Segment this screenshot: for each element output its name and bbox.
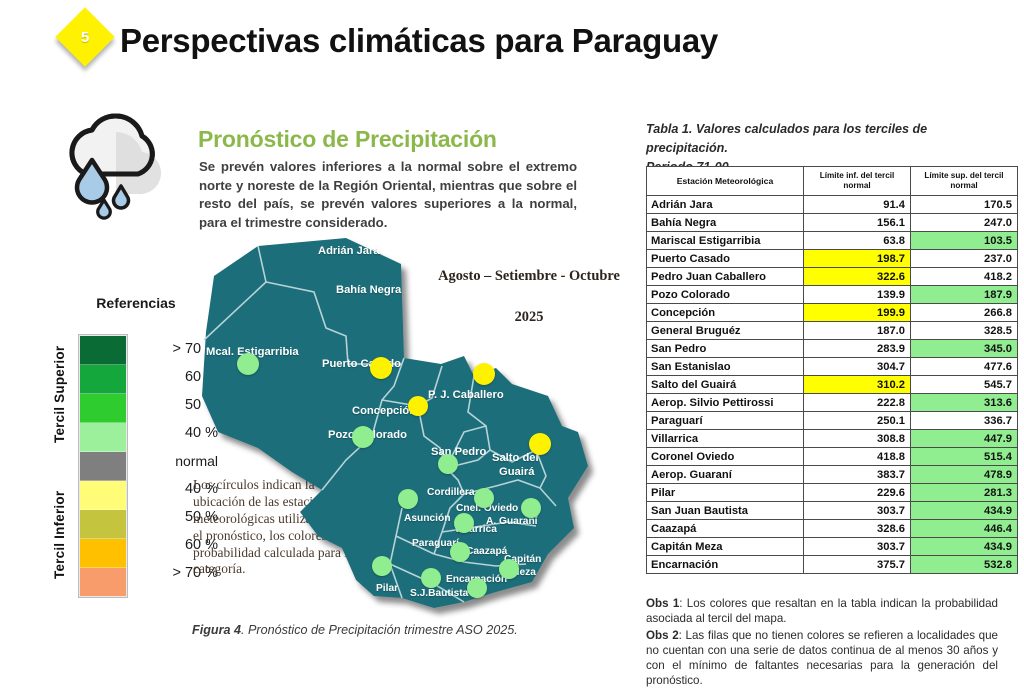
figure-caption: Figura 4. Pronóstico de Precipitación tr…: [192, 623, 612, 637]
map-station-marker[interactable]: [421, 568, 441, 588]
cell-lower-tercile: 139.9: [804, 286, 911, 304]
column-header-station: Estación Meteorológica: [647, 167, 804, 196]
observation-2: Obs 2: Las filas que no tienen colores s…: [646, 628, 998, 689]
cell-upper-tercile: 447.9: [911, 430, 1018, 448]
cell-upper-tercile: 237.0: [911, 250, 1018, 268]
cell-lower-tercile: 418.8: [804, 448, 911, 466]
cloud-rain-icon: [56, 112, 176, 222]
cell-upper-tercile: 434.9: [911, 538, 1018, 556]
cell-upper-tercile: 515.4: [911, 448, 1018, 466]
forecast-description: Se prevén valores inferiores a la normal…: [199, 158, 577, 233]
cell-lower-tercile: 199.9: [804, 304, 911, 322]
table-caption-label: Tabla 1.: [646, 122, 692, 136]
figure-caption-text: . Pronóstico de Precipitación trimestre …: [241, 623, 518, 637]
table-row: Caazapá328.6446.4: [647, 520, 1018, 538]
cell-lower-tercile: 328.6: [804, 520, 911, 538]
map-station-marker[interactable]: [474, 488, 494, 508]
legend-title: Referencias: [66, 295, 206, 311]
table-row: San Pedro283.9345.0: [647, 340, 1018, 358]
legend-swatch-3: [80, 423, 126, 452]
cell-station-name: Villarrica: [647, 430, 804, 448]
legend-swatch-2: [80, 394, 126, 423]
observation-2-text: : Las filas que no tienen colores se ref…: [646, 629, 998, 688]
table-row: Paraguarí250.1336.7: [647, 412, 1018, 430]
forecast-period: Agosto – Setiembre - Octubre 2025: [434, 268, 624, 326]
cell-upper-tercile: 532.8: [911, 556, 1018, 574]
cell-upper-tercile: 187.9: [911, 286, 1018, 304]
cell-lower-tercile: 222.8: [804, 394, 911, 412]
map-station-marker[interactable]: [370, 357, 392, 379]
cell-station-name: Salto del Guairá: [647, 376, 804, 394]
cell-lower-tercile: 91.4: [804, 196, 911, 214]
table-row: Concepción199.9266.8: [647, 304, 1018, 322]
cell-station-name: Capitán Meza: [647, 538, 804, 556]
column-header-upper-tercile: Límite sup. del tercil normal: [911, 167, 1018, 196]
cell-upper-tercile: 328.5: [911, 322, 1018, 340]
map-station-marker[interactable]: [398, 489, 418, 509]
column-header-lower-tercile: Límite inf. del tercil normal: [804, 167, 911, 196]
cell-upper-tercile: 418.2: [911, 268, 1018, 286]
cell-lower-tercile: 156.1: [804, 214, 911, 232]
section-number-label: 5: [64, 16, 106, 58]
table-row: Pozo Colorado139.9187.9: [647, 286, 1018, 304]
cell-upper-tercile: 434.9: [911, 502, 1018, 520]
legend-swatch-0: [80, 336, 126, 365]
cell-lower-tercile: 303.7: [804, 502, 911, 520]
cell-upper-tercile: 281.3: [911, 484, 1018, 502]
cell-station-name: Coronel Oviedo: [647, 448, 804, 466]
cell-lower-tercile: 198.7: [804, 250, 911, 268]
table-row: General Bruguéz187.0328.5: [647, 322, 1018, 340]
cell-upper-tercile: 266.8: [911, 304, 1018, 322]
map-station-marker[interactable]: [372, 556, 392, 576]
cell-lower-tercile: 310.2: [804, 376, 911, 394]
table-row: Bahía Negra156.1247.0: [647, 214, 1018, 232]
map-station-marker[interactable]: [454, 513, 474, 533]
cell-upper-tercile: 345.0: [911, 340, 1018, 358]
legend-swatch-6: [80, 510, 126, 539]
cell-station-name: Pilar: [647, 484, 804, 502]
cell-station-name: Pedro Juan Caballero: [647, 268, 804, 286]
cell-station-name: Aerop. Guaraní: [647, 466, 804, 484]
cell-upper-tercile: 170.5: [911, 196, 1018, 214]
slide-page: 5 Perspectivas climáticas para Paraguay …: [0, 0, 1024, 677]
cell-lower-tercile: 383.7: [804, 466, 911, 484]
legend-swatch-1: [80, 365, 126, 394]
table-row: Pilar229.6281.3: [647, 484, 1018, 502]
table-row: Coronel Oviedo418.8515.4: [647, 448, 1018, 466]
cell-upper-tercile: 247.0: [911, 214, 1018, 232]
legend-swatch-5: [80, 481, 126, 510]
observation-1-label: Obs 1: [646, 597, 679, 610]
cell-lower-tercile: 250.1: [804, 412, 911, 430]
cell-station-name: Bahía Negra: [647, 214, 804, 232]
cell-upper-tercile: 313.6: [911, 394, 1018, 412]
table-observations: Obs 1: Los colores que resaltan en la ta…: [646, 596, 998, 690]
cell-station-name: San Juan Bautista: [647, 502, 804, 520]
map-station-marker[interactable]: [529, 433, 551, 455]
cell-upper-tercile: 545.7: [911, 376, 1018, 394]
page-title: Perspectivas climáticas para Paraguay: [120, 22, 718, 60]
legend-group-lower-label: Tercil Inferior: [52, 478, 67, 592]
cell-lower-tercile: 229.6: [804, 484, 911, 502]
map-station-marker[interactable]: [450, 542, 470, 562]
tercile-values-table: Estación Meteorológica Límite inf. del t…: [646, 166, 1018, 574]
cell-station-name: Paraguarí: [647, 412, 804, 430]
figure-caption-label: Figura 4: [192, 623, 241, 637]
cell-station-name: Adrián Jara: [647, 196, 804, 214]
table-row: Capitán Meza303.7434.9: [647, 538, 1018, 556]
map-station-marker[interactable]: [352, 426, 374, 448]
map-station-marker[interactable]: [499, 559, 519, 579]
cell-station-name: Concepción: [647, 304, 804, 322]
cell-lower-tercile: 283.9: [804, 340, 911, 358]
observation-2-label: Obs 2: [646, 629, 679, 642]
table-row: Mariscal Estigarribia63.8103.5: [647, 232, 1018, 250]
table-header-row: Estación Meteorológica Límite inf. del t…: [647, 167, 1018, 196]
observation-1-text: : Los colores que resaltan en la tabla i…: [646, 597, 998, 625]
table-row: Aerop. Guaraní383.7478.9: [647, 466, 1018, 484]
forecast-period-year: 2025: [434, 309, 624, 326]
legend-swatch-8: [80, 568, 126, 596]
cell-lower-tercile: 308.8: [804, 430, 911, 448]
legend-swatch-4: [80, 452, 126, 481]
table-row: Pedro Juan Caballero322.6418.2: [647, 268, 1018, 286]
cell-lower-tercile: 187.0: [804, 322, 911, 340]
map-station-marker[interactable]: [467, 578, 487, 598]
cell-lower-tercile: 303.7: [804, 538, 911, 556]
observation-1: Obs 1: Los colores que resaltan en la ta…: [646, 596, 998, 627]
table-row: Puerto Casado198.7237.0: [647, 250, 1018, 268]
cell-station-name: Pozo Colorado: [647, 286, 804, 304]
table-row: San Estanislao304.7477.6: [647, 358, 1018, 376]
cell-station-name: Encarnación: [647, 556, 804, 574]
map-station-marker[interactable]: [237, 353, 259, 375]
forecast-period-months: Agosto – Setiembre - Octubre: [438, 268, 620, 284]
cell-station-name: General Bruguéz: [647, 322, 804, 340]
table-row: Adrián Jara91.4170.5: [647, 196, 1018, 214]
cell-station-name: San Estanislao: [647, 358, 804, 376]
cell-station-name: San Pedro: [647, 340, 804, 358]
forecast-heading: Pronóstico de Precipitación: [198, 126, 497, 153]
cell-station-name: Mariscal Estigarribia: [647, 232, 804, 250]
page-title-row: 5 Perspectivas climáticas para Paraguay: [58, 8, 958, 74]
map-station-marker[interactable]: [408, 396, 428, 416]
legend-group-upper-label: Tercil Superior: [52, 337, 67, 451]
table-row: Aerop. Silvio Pettirossi222.8313.6: [647, 394, 1018, 412]
cell-lower-tercile: 375.7: [804, 556, 911, 574]
table-body: Adrián Jara91.4170.5Bahía Negra156.1247.…: [647, 196, 1018, 574]
legend-swatch-7: [80, 539, 126, 568]
cell-station-name: Aerop. Silvio Pettirossi: [647, 394, 804, 412]
cell-upper-tercile: 336.7: [911, 412, 1018, 430]
table-row: Encarnación375.7532.8: [647, 556, 1018, 574]
table-row: Villarrica308.8447.9: [647, 430, 1018, 448]
cell-lower-tercile: 63.8: [804, 232, 911, 250]
cell-station-name: Caazapá: [647, 520, 804, 538]
cell-lower-tercile: 322.6: [804, 268, 911, 286]
map-station-marker[interactable]: [473, 363, 495, 385]
cell-lower-tercile: 304.7: [804, 358, 911, 376]
cell-upper-tercile: 478.9: [911, 466, 1018, 484]
section-number-badge: 5: [58, 10, 128, 72]
cell-upper-tercile: 477.6: [911, 358, 1018, 376]
cell-station-name: Puerto Casado: [647, 250, 804, 268]
map-station-marker[interactable]: [521, 498, 541, 518]
table-row: San Juan Bautista303.7434.9: [647, 502, 1018, 520]
table-row: Salto del Guairá310.2545.7: [647, 376, 1018, 394]
map-station-marker[interactable]: [438, 454, 458, 474]
cell-upper-tercile: 103.5: [911, 232, 1018, 250]
cell-upper-tercile: 446.4: [911, 520, 1018, 538]
legend-swatch-stack: [78, 334, 128, 598]
